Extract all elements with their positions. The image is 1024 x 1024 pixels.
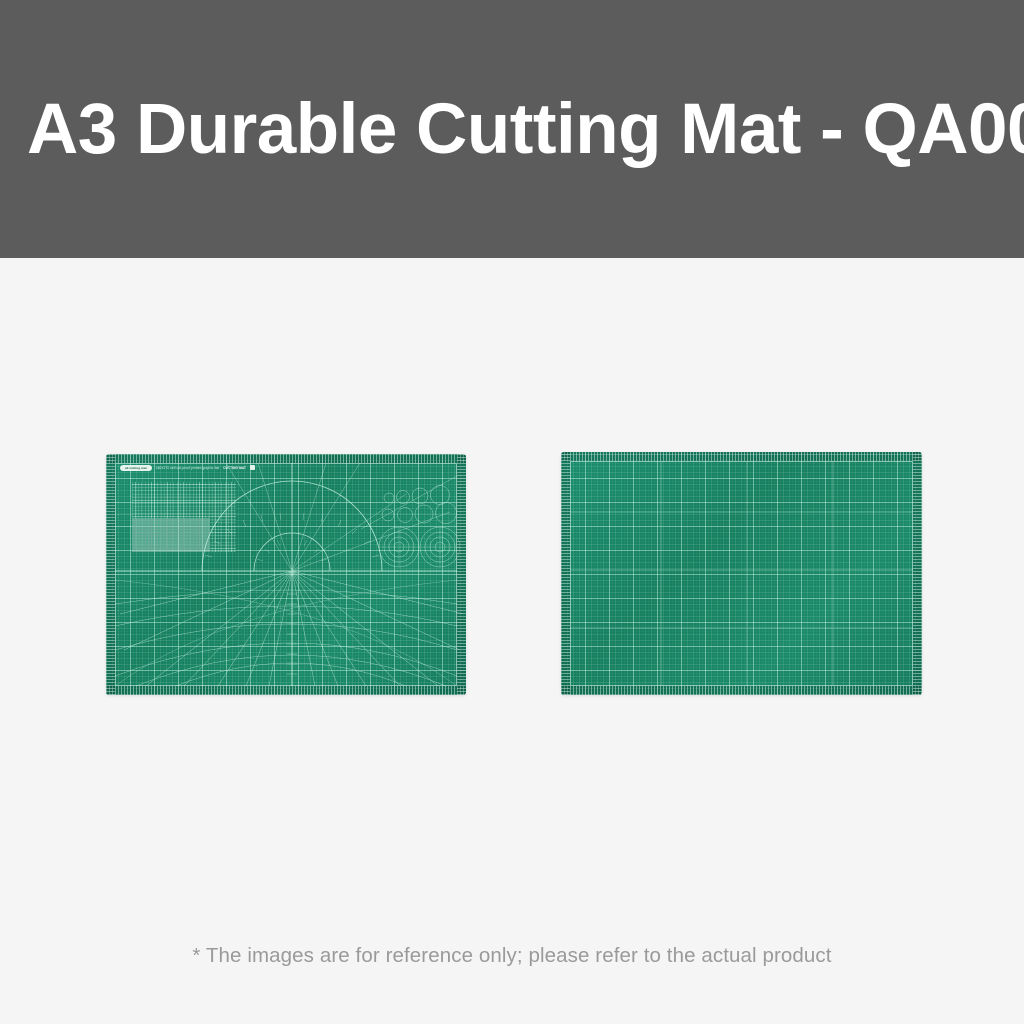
mat-ruler-right-front <box>457 454 466 695</box>
mat-ruler-left-front <box>106 454 115 695</box>
header-banner: A3 Durable Cutting Mat - QA002 <box>0 0 1024 258</box>
page-title: A3 Durable Cutting Mat - QA002 <box>0 94 1024 165</box>
product-image-mat-front[interactable]: a3 cutting mat 180X270 self cut-proof pr… <box>106 454 466 695</box>
mat-ruler-top-back <box>561 452 922 461</box>
mat-inner-frame-back <box>570 461 913 686</box>
mat-ruler-bottom-back <box>561 686 922 695</box>
product-image-mat-back[interactable] <box>561 452 922 695</box>
reference-disclaimer: * The images are for reference only; ple… <box>0 944 1024 968</box>
mat-inner-frame-front <box>115 463 457 686</box>
mat-ruler-right-back <box>913 452 922 695</box>
product-image-stage: a3 cutting mat 180X270 self cut-proof pr… <box>0 258 1024 1024</box>
mat-ruler-top-front <box>106 454 466 463</box>
mat-ruler-left-back <box>561 452 570 695</box>
mat-ruler-bottom-front <box>106 686 466 695</box>
